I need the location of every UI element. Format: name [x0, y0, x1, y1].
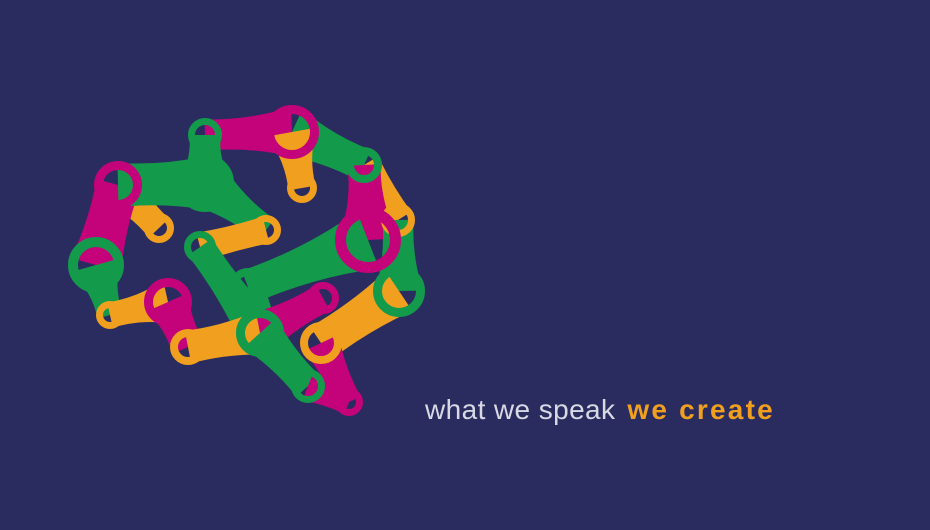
splash-canvas: what we speak we create: [0, 0, 930, 530]
brain-network-logo: [55, 95, 445, 435]
brain-network-svg: [55, 95, 445, 435]
tagline-accent-text: we create: [627, 394, 774, 426]
tagline-light-text: what we speak: [425, 394, 615, 426]
tagline: what we speak we create: [425, 390, 775, 430]
